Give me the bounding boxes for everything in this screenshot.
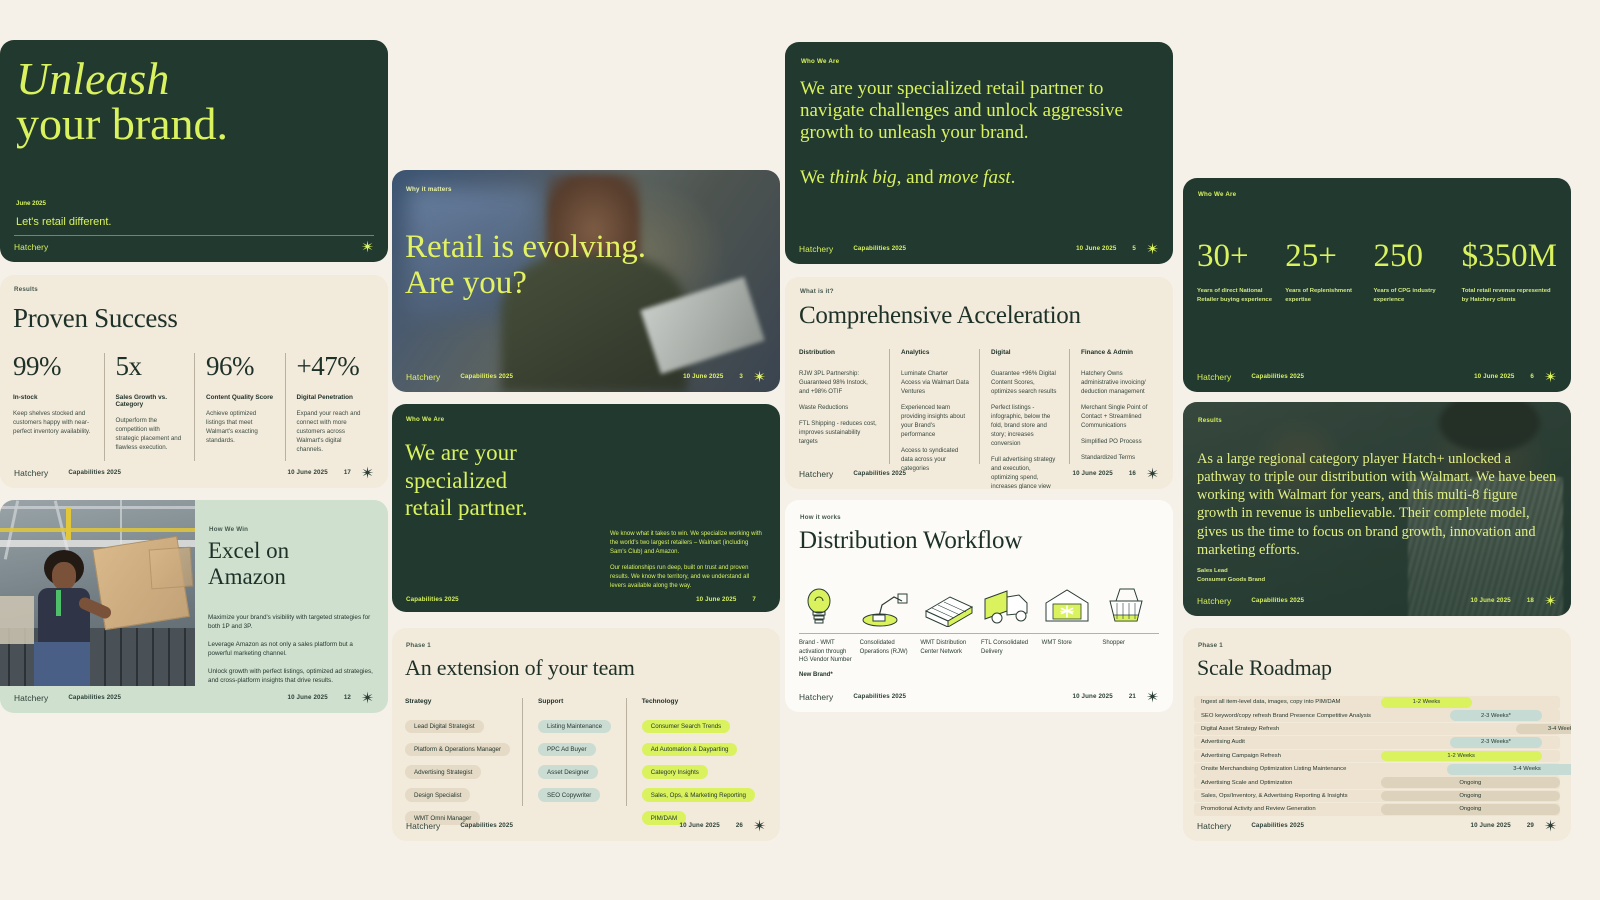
stats-row: 30+ Years of direct National Retailer bu… <box>1197 240 1557 304</box>
stat-item: +47% Digital Penetration Expand your rea… <box>285 353 376 461</box>
capability-item: Merchant Single Point of Contact + Strea… <box>1081 403 1149 430</box>
stat-description: Outperform the competition with strategi… <box>116 417 185 453</box>
paragraph: Our relationships run deep, built on tru… <box>610 564 766 591</box>
slide-eyebrow: Who We Are <box>406 416 444 423</box>
stat-description: Years of direct National Retailer buying… <box>1197 287 1279 304</box>
cover-tagline: Let's retail different. <box>16 216 111 228</box>
sparkle-icon <box>1544 819 1557 832</box>
team-column-technology: Technology Consumer Search Trends Ad Aut… <box>626 698 767 829</box>
page-title: An extension of your team <box>405 655 635 681</box>
slide-unleash-your-brand[interactable]: Unleash your brand. June 2025 Let's reta… <box>0 40 388 262</box>
sparkle-icon <box>753 819 766 832</box>
capability-item: Standardized Terms <box>1081 453 1149 462</box>
brand-name: Hatchery <box>1197 821 1231 831</box>
title-line-3: retail partner. <box>405 495 528 520</box>
roadmap-task-label: Digital Asset Strategy Refresh <box>1194 726 1279 732</box>
column-heading: Technology <box>642 698 755 705</box>
roadmap-task-label: Advertising Scale and Optimization <box>1194 780 1292 786</box>
roadmap-duration-bar[interactable]: 3-4 Weeks <box>1447 764 1571 775</box>
page-number: 3 <box>739 373 743 380</box>
sparkle-icon <box>1146 467 1159 480</box>
cover-date: June 2025 <box>16 200 46 207</box>
statement-text: We are your specialized retail partner t… <box>800 78 1157 145</box>
stat-description: Expand your reach and connect with more … <box>297 410 366 455</box>
stat-item: 25+ Years of Replenishment expertise <box>1285 240 1367 304</box>
slide-eyebrow: How We Win <box>209 526 248 533</box>
roadmap-row[interactable]: Onsite Merchandising Optimization Listin… <box>1194 763 1560 776</box>
page-title: Distribution Workflow <box>799 527 1022 555</box>
roadmap-row[interactable]: Advertising Campaign Refresh1-2 Weeks <box>1194 750 1560 763</box>
capability-item: FTL Shipping - reduces cost, improves su… <box>799 419 879 446</box>
slide-footer: Hatchery Capabilities 2025 10 June 2025 … <box>406 370 766 383</box>
page-title: Proven Success <box>13 303 178 334</box>
page-number: 7 <box>752 596 756 603</box>
stat-item: 5x Sales Growth vs. Category Outperform … <box>104 353 195 461</box>
slide-date: 10 June 2025 <box>287 469 327 476</box>
capability-item: Perfect listings - infographic, below th… <box>991 403 1059 448</box>
brand-name: Hatchery <box>799 469 833 479</box>
capability-item: Luminate Charter Access via Walmart Data… <box>901 369 969 396</box>
slide-date: 10 June 2025 <box>1470 597 1510 604</box>
title-line-1: Unleash <box>16 56 228 101</box>
page-title: Comprehensive Acceleration <box>799 302 1081 330</box>
paragraph: Leverage Amazon as not only a sales plat… <box>208 640 374 659</box>
stat-value: +47% <box>297 353 366 380</box>
basket-icon <box>1102 585 1159 627</box>
role-pill[interactable]: SEO Copywriter <box>538 788 600 802</box>
role-pill[interactable]: Lead Digital Strategist <box>405 720 484 734</box>
title-line-2: specialized <box>405 468 507 493</box>
roadmap-row[interactable]: Ingest all item-level data, images, copy… <box>1194 696 1560 709</box>
deck-name: Capabilities 2025 <box>1251 597 1304 604</box>
step-sublabel: New Brand* <box>799 672 856 678</box>
capability-item: RJW 3PL Partnership: Guaranteed 98% Inst… <box>799 369 879 396</box>
emph-pre: We <box>800 167 830 188</box>
page-title: We are your specialized retail partner. <box>405 439 528 522</box>
brand-name: Hatchery <box>799 244 833 254</box>
roadmap-duration-bar[interactable]: 3-4 Weeks <box>1516 724 1571 735</box>
capability-item: Guarantee +96% Digital Content Scores, o… <box>991 369 1059 396</box>
slide-scale-roadmap[interactable]: Phase 1 Scale Roadmap Ingest all item-le… <box>1183 628 1571 841</box>
slide-eyebrow: Phase 1 <box>406 642 431 649</box>
column-heading: Finance & Admin <box>1081 349 1149 356</box>
footer-divider <box>14 235 374 236</box>
roadmap-duration-bar[interactable]: Ongoing <box>1381 777 1560 788</box>
stat-item: 99% In-stock Keep shelves stocked and cu… <box>13 353 104 461</box>
brand-name: Hatchery <box>406 372 440 382</box>
brand-name: Hatchery <box>1197 596 1231 606</box>
deck-name: Capabilities 2025 <box>460 373 513 380</box>
page-number: 6 <box>1530 373 1534 380</box>
step-label: Brand - WMT activation through HG Vendor… <box>799 639 856 665</box>
stat-label: Content Quality Score <box>206 394 275 401</box>
sparkle-icon <box>361 466 374 479</box>
slide-footer: Hatchery Capabilities 2025 10 June 2025 … <box>799 242 1159 255</box>
column-heading: Digital <box>991 349 1059 356</box>
page-number: 17 <box>344 469 351 476</box>
sparkle-icon <box>361 240 374 253</box>
slide-footer: Hatchery <box>14 240 374 253</box>
step-label: WMT Store <box>1042 639 1099 648</box>
capability-item: Experienced team providing insights abou… <box>901 403 969 439</box>
deck-name: Capabilities 2025 <box>853 245 906 252</box>
stat-label: Digital Penetration <box>297 394 366 401</box>
sparkle-icon <box>1146 242 1159 255</box>
testimonial-attribution: Sales Lead Consumer Goods Brand <box>1197 567 1265 585</box>
slide-eyebrow: What is it? <box>800 288 834 295</box>
roadmap-duration-bar[interactable]: Ongoing <box>1381 804 1560 815</box>
slide-date: 10 June 2025 <box>696 596 736 603</box>
title-line-1: Excel on <box>208 538 289 563</box>
slide-eyebrow: Why it matters <box>406 186 452 193</box>
roadmap-duration-bar[interactable]: 1-2 Weeks <box>1381 697 1473 708</box>
emph-mid: , and <box>897 167 939 188</box>
page-number: 5 <box>1132 245 1136 252</box>
deck-name: Capabilities 2025 <box>853 693 906 700</box>
page-number: 18 <box>1527 597 1534 604</box>
slide-date: 10 June 2025 <box>1474 373 1514 380</box>
roadmap-task-label: SEO keyword/copy refresh Brand Presence … <box>1194 713 1371 719</box>
stat-value: 30+ <box>1197 240 1279 273</box>
stat-item: 30+ Years of direct National Retailer bu… <box>1197 240 1279 304</box>
emph-think-big: think big <box>830 167 897 188</box>
roadmap-duration-bar[interactable]: 2-3 Weeks* <box>1450 710 1542 721</box>
roadmap-task-label: Promotional Activity and Review Generati… <box>1194 806 1316 812</box>
deck-name: Capabilities 2025 <box>68 694 121 701</box>
stat-item: 250 Years of CPG industry experience <box>1373 240 1455 304</box>
slide-eyebrow: Who We Are <box>801 58 839 65</box>
roadmap-row[interactable]: Sales, Ops/Inventory, & Advertising Repo… <box>1194 790 1560 803</box>
title-line-2: your brand. <box>16 98 228 149</box>
slide-board: Unleash your brand. June 2025 Let's reta… <box>0 0 1600 900</box>
attribution-company: Consumer Goods Brand <box>1197 576 1265 585</box>
slide-footer: Hatchery Capabilities 2025 10 June 2025 … <box>799 690 1159 703</box>
slide-date: 10 June 2025 <box>1072 470 1112 477</box>
slide-footer: Hatchery Capabilities 2025 10 June 2025 … <box>799 467 1159 480</box>
specialized-paragraphs: We know what it takes to win. We special… <box>610 530 766 598</box>
role-pill[interactable]: Consumer Search Trends <box>642 720 731 734</box>
column-heading: Distribution <box>799 349 879 356</box>
slide-date: 10 June 2025 <box>679 822 719 829</box>
emph-end: . <box>1011 167 1016 188</box>
warehouse-photo <box>0 500 195 686</box>
roadmap-task-label: Advertising Campaign Refresh <box>1194 753 1281 759</box>
roadmap-row[interactable]: Advertising Scale and OptimizationOngoin… <box>1194 776 1560 789</box>
slide-eyebrow: How it works <box>800 514 841 521</box>
slide-distribution-workflow[interactable]: How it works Distribution Workflow <box>785 500 1173 712</box>
deck-name: Capabilities 2025 <box>406 596 459 603</box>
paragraph: Unlock growth with perfect listings, opt… <box>208 667 374 686</box>
page-number: 26 <box>736 822 743 829</box>
brand-name: Hatchery <box>1197 372 1231 382</box>
slide-date: 10 June 2025 <box>287 694 327 701</box>
stat-description: Achieve optimized listings that meet Wal… <box>206 410 275 446</box>
column-heading: Analytics <box>901 349 969 356</box>
testimonial-text: As a large regional category player Hatc… <box>1197 450 1557 559</box>
slide-footer: Hatchery Capabilities 2025 10 June 2025 … <box>1197 370 1557 383</box>
stat-description: Years of CPG industry experience <box>1373 287 1455 304</box>
stat-description: Keep shelves stocked and customers happy… <box>13 410 94 437</box>
page-number: 16 <box>1129 470 1136 477</box>
excel-paragraphs: Maximize your brand's visibility with ta… <box>208 613 374 694</box>
title-line-2: Amazon <box>208 564 286 589</box>
roadmap-row[interactable]: Advertising Audit2-3 Weeks* <box>1194 736 1560 749</box>
stat-value: 5x <box>116 353 185 380</box>
brand-name: Hatchery <box>406 821 440 831</box>
slide-date: 10 June 2025 <box>1072 693 1112 700</box>
role-pill[interactable]: Design Specialist <box>405 788 470 802</box>
role-pill[interactable]: Listing Maintenance <box>538 720 611 734</box>
slide-eyebrow: Who We Are <box>1198 191 1236 198</box>
roadmap-task-label: Ingest all item-level data, images, copy… <box>1194 699 1340 705</box>
stat-description: Total retail revenue represented by Hatc… <box>1462 287 1557 304</box>
stat-value: 96% <box>206 353 275 380</box>
team-column-support: Support Listing Maintenance PPC Ad Buyer… <box>522 698 626 829</box>
stat-value: 250 <box>1373 240 1455 273</box>
step-label: Shopper <box>1102 639 1159 648</box>
page-title: Excel on Amazon <box>208 538 289 590</box>
deck-name: Capabilities 2025 <box>460 822 513 829</box>
step-label: FTL Consolidated Delivery <box>981 639 1038 656</box>
deck-name: Capabilities 2025 <box>68 469 121 476</box>
capability-item: Waste Reductions <box>799 403 879 412</box>
roadmap-task-label: Sales, Ops/Inventory, & Advertising Repo… <box>1194 793 1348 799</box>
slide-eyebrow: Results <box>14 286 38 293</box>
stat-item: $350M Total retail revenue represented b… <box>1462 240 1557 304</box>
stat-value: $350M <box>1462 240 1557 273</box>
slide-specialized-retail-partner[interactable]: Who We Are We are your specialized retai… <box>392 404 780 612</box>
slide-eyebrow: Results <box>1198 417 1222 424</box>
slide-proven-success[interactable]: Results Proven Success 99% In-stock Keep… <box>0 275 388 488</box>
brand-name: Hatchery <box>14 242 48 252</box>
role-pill[interactable]: Category Insights <box>642 765 708 779</box>
slide-title: Unleash your brand. <box>16 56 228 146</box>
store-icon <box>1042 585 1099 627</box>
slide-date: 10 June 2025 <box>683 373 723 380</box>
slide-who-we-are-statement[interactable]: Who We Are We are your specialized retai… <box>785 42 1173 264</box>
roadmap-rows: Ingest all item-level data, images, copy… <box>1194 696 1560 817</box>
title-line-1: We are your <box>405 440 517 465</box>
stat-label: Sales Growth vs. Category <box>116 394 185 408</box>
slide-footer: Hatchery Capabilities 2025 10 June 2025 … <box>14 466 374 479</box>
slide-footer: Capabilities 2025 10 June 2025 7 <box>406 596 766 603</box>
role-pill[interactable]: Asset Designer <box>538 765 598 779</box>
stat-item: 96% Content Quality Score Achieve optimi… <box>194 353 285 461</box>
step-label: WMT Distribution Center Network <box>920 639 977 656</box>
slide-footer: Hatchery Capabilities 2025 10 June 2025 … <box>406 819 766 832</box>
attribution-role: Sales Lead <box>1197 567 1265 576</box>
slide-retail-is-evolving[interactable]: Why it matters Retail is evolving. Are y… <box>392 170 780 392</box>
slide-footer: Hatchery Capabilities 2025 10 June 2025 … <box>1197 819 1557 832</box>
column-heading: Strategy <box>405 698 510 705</box>
lightbulb-icon <box>799 585 856 627</box>
capability-item: Hatchery Owns administrative invoicing/ … <box>1081 369 1149 396</box>
excel-content: How We Win Excel on Amazon Maximize your… <box>195 500 388 713</box>
deck-name: Capabilities 2025 <box>853 470 906 477</box>
page-number: 29 <box>1527 822 1534 829</box>
sparkle-icon <box>1544 594 1557 607</box>
slide-excel-on-amazon[interactable]: How We Win Excel on Amazon Maximize your… <box>0 500 388 713</box>
stat-description: Years of Replenishment expertise <box>1285 287 1367 304</box>
slide-date: 10 June 2025 <box>1470 822 1510 829</box>
brand-name: Hatchery <box>14 693 48 703</box>
slide-footer: Hatchery Capabilities 2025 10 June 2025 … <box>1197 594 1557 607</box>
sparkle-icon <box>753 370 766 383</box>
page-number: 12 <box>344 694 351 701</box>
workflow-labels: Brand - WMT activation through HG Vendor… <box>799 639 1159 678</box>
roadmap-row[interactable]: Promotional Activity and Review Generati… <box>1194 803 1560 816</box>
slide-comprehensive-acceleration[interactable]: What is it? Comprehensive Acceleration D… <box>785 277 1173 489</box>
role-pill[interactable]: Platform & Operations Manager <box>405 743 510 757</box>
brand-name: Hatchery <box>799 692 833 702</box>
sparkle-icon <box>361 691 374 704</box>
roadmap-duration-bar[interactable]: Ongoing <box>1381 791 1560 802</box>
role-pill[interactable]: Advertising Strategist <box>405 765 481 779</box>
sparkle-icon <box>1146 690 1159 703</box>
team-column-strategy: Strategy Lead Digital Strategist Platfor… <box>405 698 522 829</box>
stat-value: 25+ <box>1285 240 1367 273</box>
slide-date: 10 June 2025 <box>1076 245 1116 252</box>
roadmap-task-label: Advertising Audit <box>1194 739 1245 745</box>
capability-item: Simplified PO Process <box>1081 437 1149 446</box>
deck-name: Capabilities 2025 <box>1251 822 1304 829</box>
roadmap-duration-bar[interactable]: 2-3 Weeks* <box>1450 737 1542 748</box>
stat-value: 99% <box>13 353 94 380</box>
stat-label: In-stock <box>13 394 94 401</box>
roadmap-task-label: Onsite Merchandising Optimization Listin… <box>1194 766 1346 772</box>
paragraph: Maximize your brand's visibility with ta… <box>208 613 374 632</box>
workflow-divider <box>799 633 1159 634</box>
team-columns: Strategy Lead Digital Strategist Platfor… <box>405 698 767 829</box>
column-heading: Support <box>538 698 614 705</box>
page-number: 21 <box>1129 693 1136 700</box>
slide-client-testimonial[interactable]: Results As a large regional category pla… <box>1183 402 1571 616</box>
step-label: Consolidated Operations (RJW) <box>860 639 917 656</box>
slide-who-we-are-stats[interactable]: Who We Are 30+ Years of direct National … <box>1183 178 1571 392</box>
sparkle-icon <box>1544 370 1557 383</box>
brand-name: Hatchery <box>14 468 48 478</box>
role-pill[interactable]: Sales, Ops, & Marketing Reporting <box>642 788 755 802</box>
robot-arm-icon <box>860 585 917 627</box>
emph-move-fast: move fast <box>938 167 1010 188</box>
paragraph: We know what it takes to win. We special… <box>610 530 766 557</box>
statement-emphasis: We think big, and move fast. <box>800 167 1015 189</box>
title-line-2: Are you? <box>405 265 527 301</box>
title-line-1: Retail is evolving. <box>405 229 646 265</box>
stats-grid: 99% In-stock Keep shelves stocked and cu… <box>13 353 375 461</box>
roadmap-row[interactable]: Digital Asset Strategy Refresh3-4 Weeks <box>1194 723 1560 736</box>
roadmap-row[interactable]: SEO keyword/copy refresh Brand Presence … <box>1194 709 1560 722</box>
slide-footer: Hatchery Capabilities 2025 10 June 2025 … <box>14 691 374 704</box>
slide-eyebrow: Phase 1 <box>1198 642 1223 649</box>
roadmap-duration-bar[interactable]: 1-2 Weeks <box>1381 751 1542 762</box>
slide-extension-of-your-team[interactable]: Phase 1 An extension of your team Strate… <box>392 628 780 841</box>
role-pill[interactable]: Ad Automation & Dayparting <box>642 743 738 757</box>
truck-icon <box>981 585 1038 627</box>
workflow-icons <box>799 585 1159 627</box>
deck-name: Capabilities 2025 <box>1251 373 1304 380</box>
pallet-icon <box>920 585 977 627</box>
role-pill[interactable]: PPC Ad Buyer <box>538 743 596 757</box>
page-title: Retail is evolving. Are you? <box>405 230 646 301</box>
page-title: Scale Roadmap <box>1197 655 1332 681</box>
